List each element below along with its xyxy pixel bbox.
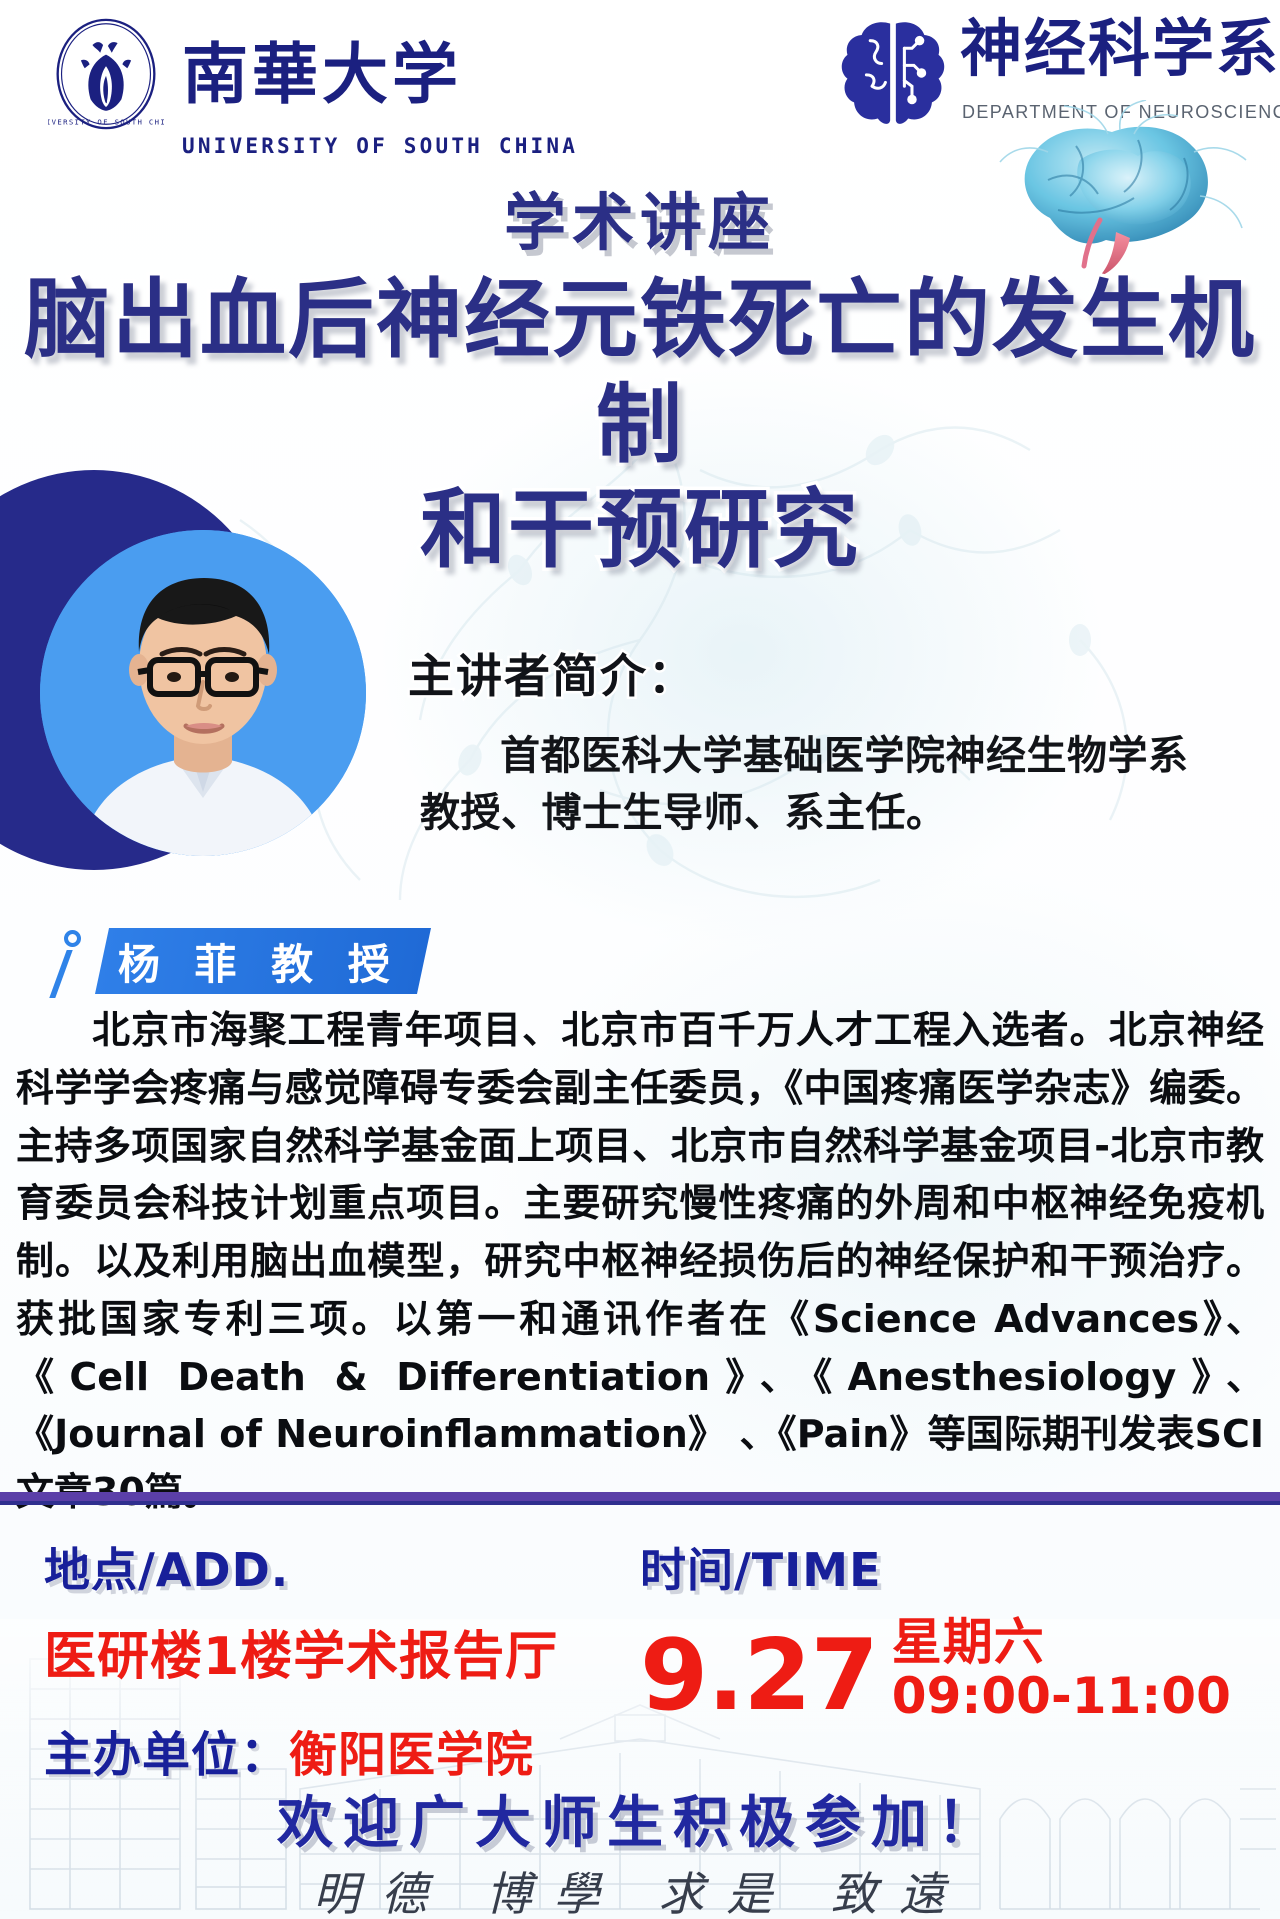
speaker-bio-text: 北京市海聚工程青年项目、北京市百千万人才工程入选者。北京神经科学学会疼痛与感觉障… [16,1002,1264,1522]
host-row: 主办单位：衡阳医学院 [44,1715,664,1785]
page-title-line1: 脑出血后神经元铁死亡的发生机制 [24,270,1256,475]
page-title-line2: 和干预研究 [0,478,1280,583]
speaker-affiliation: 首都医科大学基础医学院神经生物学系 教授、博士生导师、系主任。 [420,728,1260,842]
time-column: 时间/TIME 9.27 星期六 09:00-11:00 [640,1534,1260,1724]
university-motto: 明德 博學 求是 致遠 [0,1858,1280,1919]
speaker-affiliation-line1: 首都医科大学基础医学院神经生物学系 [420,728,1260,785]
speaker-name: 杨 菲 教 授 [118,931,400,992]
event-hours: 09:00-11:00 [892,1669,1231,1724]
event-info: 地点/ADD. 医研楼1楼学术报告厅 主办单位：衡阳医学院 时间/TIME 9.… [0,1516,1280,1776]
event-date: 9.27 [640,1630,878,1723]
department-name-cn: 神经科学系 [960,16,1280,81]
speaker-name-badge: 杨 菲 教 授 [54,928,424,994]
section-divider-secondary [0,1501,1280,1505]
welcome-message: 欢迎广大师生积极参加！ [0,1778,1280,1859]
section-divider [0,1492,1280,1501]
event-weekday: 星期六 [892,1616,1231,1669]
speaker-name-banner-box: 杨 菲 教 授 [95,928,431,994]
page-title: 脑出血后神经元铁死亡的发生机制 和干预研究 [0,268,1280,583]
time-detail: 星期六 09:00-11:00 [892,1616,1231,1724]
university-name-cn: 南華大学 [182,41,462,107]
time-values: 9.27 星期六 09:00-11:00 [640,1616,1260,1724]
speaker-affiliation-line2: 教授、博士生导师、系主任。 [420,785,1260,842]
kicker-title: 学术讲座 [0,172,1280,262]
address-value: 医研楼1楼学术报告厅 [44,1614,664,1689]
host-label: 主办单位： [44,1727,289,1783]
badge-dot-icon [64,930,81,947]
badge-slash-icon [49,950,72,998]
svg-text:UNIVERSITY OF SOUTH CHINA: UNIVERSITY OF SOUTH CHINA [48,117,164,126]
address-column: 地点/ADD. 医研楼1楼学术报告厅 主办单位：衡阳医学院 [44,1534,664,1785]
address-label: 地点/ADD. [44,1534,664,1600]
poster-header: UNIVERSITY OF SOUTH CHINA 南華大学 UNIVERSIT… [0,0,1280,150]
speaker-section-label: 主讲者简介： [408,640,696,706]
university-name-en: UNIVERSITY OF SOUTH CHINA [182,134,578,158]
poster-root: UNIVERSITY OF SOUTH CHINA 南華大学 UNIVERSIT… [0,0,1280,1919]
university-logo: UNIVERSITY OF SOUTH CHINA 南華大学 UNIVERSIT… [48,16,578,158]
university-seal-icon: UNIVERSITY OF SOUTH CHINA [48,16,164,132]
brain-circuit-icon [834,16,952,128]
time-label: 时间/TIME [640,1534,1260,1600]
host-value: 衡阳医学院 [289,1727,534,1783]
speaker-bio: 北京市海聚工程青年项目、北京市百千万人才工程入选者。北京神经科学学会疼痛与感觉障… [16,1002,1264,1522]
